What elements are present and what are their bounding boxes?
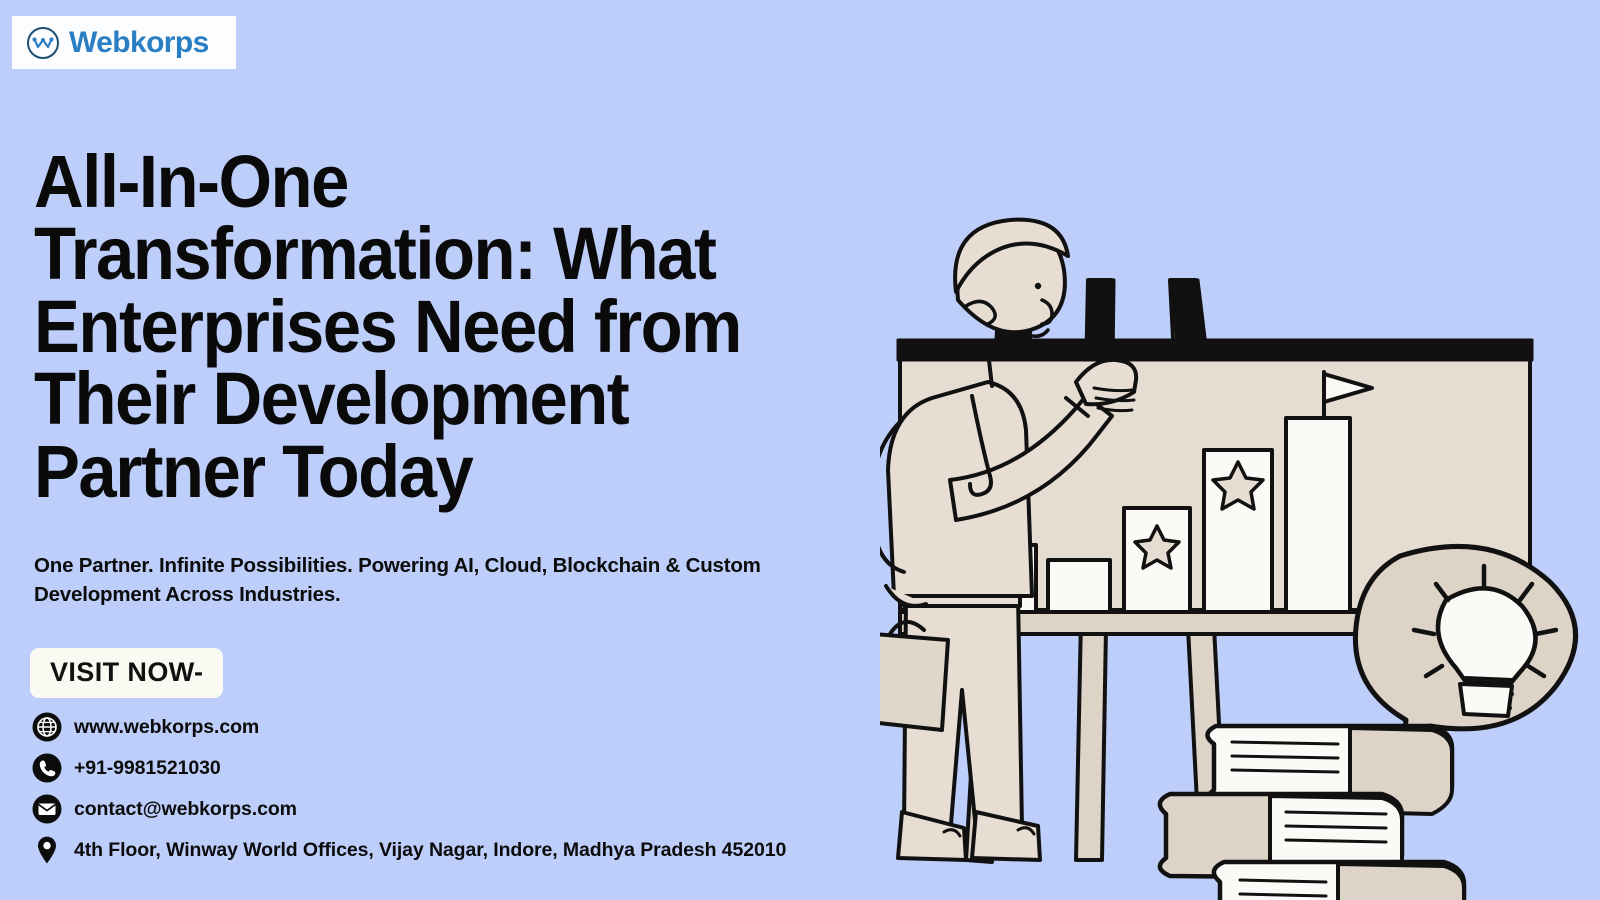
bar-4 xyxy=(1204,450,1272,613)
promo-banner: Webkorps All-In-One Transformation: What… xyxy=(0,0,1600,900)
location-pin-icon xyxy=(32,835,62,865)
bar-3 xyxy=(1124,508,1190,613)
presenter-with-bar-chart-illustration xyxy=(880,0,1600,900)
headline-line-3: Enterprises Need from xyxy=(34,291,964,364)
page-title: All-In-One Transformation: What Enterpri… xyxy=(34,146,964,509)
contact-list: www.webkorps.com +91-9981521030 contact@… xyxy=(32,712,786,865)
headline-line-1: All-In-One xyxy=(34,146,964,219)
brand-name: Webkorps xyxy=(69,28,209,58)
contact-row-phone[interactable]: +91-9981521030 xyxy=(32,753,786,783)
webkorps-circle-w-icon xyxy=(26,26,60,60)
envelope-icon xyxy=(32,794,62,824)
contact-row-website[interactable]: www.webkorps.com xyxy=(32,712,786,742)
phone-text: +91-9981521030 xyxy=(74,757,221,780)
headline-line-5: Partner Today xyxy=(34,436,964,509)
globe-icon xyxy=(32,712,62,742)
headline-line-4: Their Development xyxy=(34,363,964,436)
book-bottom xyxy=(1214,862,1464,900)
phone-icon xyxy=(32,753,62,783)
email-text: contact@webkorps.com xyxy=(74,798,297,821)
contact-row-address: 4th Floor, Winway World Offices, Vijay N… xyxy=(32,835,786,865)
website-text: www.webkorps.com xyxy=(74,716,259,739)
subtitle: One Partner. Infinite Possibilities. Pow… xyxy=(34,551,824,609)
visit-now-button[interactable]: VISIT NOW- xyxy=(30,648,223,698)
contact-row-email[interactable]: contact@webkorps.com xyxy=(32,794,786,824)
bar-2 xyxy=(1048,560,1110,613)
headline-line-2: Transformation: What xyxy=(34,218,964,291)
brand-logo[interactable]: Webkorps xyxy=(12,16,236,69)
address-text: 4th Floor, Winway World Offices, Vijay N… xyxy=(74,839,786,862)
